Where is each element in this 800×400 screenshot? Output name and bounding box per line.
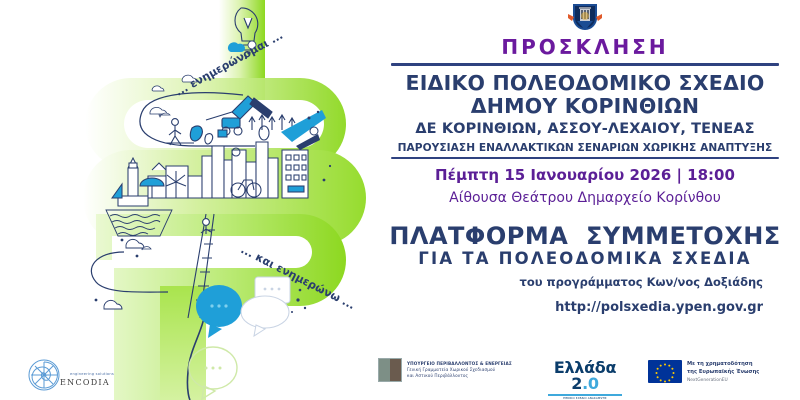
eu-line1: Με τη χρηματοδότηση [687,361,759,369]
page-topic: ΠΑΡΟΥΣΙΑΣΗ ΕΝΑΛΛΑΚΤΙΚΩΝ ΣΕΝΑΡΙΩΝ ΧΩΡΙΚΗΣ… [398,142,773,154]
greece20-two: 2 [571,374,582,393]
greece20-zero: 0 [588,374,599,393]
page-title-line2: ΔΗΜΟΥ ΚΟΡΙΝΘΙΩΝ [471,95,700,118]
divider-top [391,63,779,66]
greece20-logo: Ελλάδα 2.0 ΕΘΝΙΚΟ ΣΧΕΔΙΟ ΑΝΑΚΑΜΨΗΣ ΚΑΙ Α… [541,360,629,400]
encodia-name: ENCODIA [60,378,110,387]
footer-logos: engineering solutions ENCODIA ΥΠΟΥΡΓΕΙΟ … [0,352,800,400]
eu-line2: της Ευρωπαϊκής Ένωσης [687,369,759,377]
programme-name: του προγράμματος Κων/νος Δοξιάδης [520,275,800,289]
eu-flag-icon [648,360,682,383]
eu-line3: NextGenerationEU [687,378,759,385]
eu-funding-logo: Με τη χρηματοδότηση της Ευρωπαϊκής Ένωση… [648,360,759,384]
encodia-tagline: engineering solutions [70,372,114,376]
page-kicker: ΠΡΟΣΚΛΗΣΗ [501,37,668,57]
platform-url-link[interactable]: http://polsxedia.ypen.gov.gr [555,300,800,315]
platform-title-line1: ΠΛΑΤΦΟΡΜΑ ΣΥΜΜΕΤΟΧΗΣ [389,224,780,249]
ministry-seal-icon [378,358,402,382]
divider-mid [391,157,779,159]
poster-text-column: ΠΡΟΣΚΛΗΣΗ ΕΙΔΙΚΟ ΠΟΛΕΟΔΟΜΙΚΟ ΣΧΕΔΙΟ ΔΗΜΟ… [370,0,800,352]
page-title-line1: ΕΙΔΙΚΟ ΠΟΛΕΟΔΟΜΙΚΟ ΣΧΕΔΙΟ [406,72,765,95]
city-path-illustration: ... ενημερώνομαι ... [0,0,370,400]
encodia-spiral-icon [24,358,64,394]
coat-of-arms-icon [568,2,602,32]
ministry-logo: ΥΠΟΥΡΓΕΙΟ ΠΕΡΙΒΑΛΛΟΝΤΟΣ & ΕΝΕΡΓΕΙΑΣ Γενι… [378,358,512,382]
page-subtitle: ΔΕ ΚΟΡΙΝΘΙΩΝ, ΑΣΣΟΥ-ΛΕΧΑΙΟΥ, ΤΕΝΕΑΣ [415,121,754,138]
encodia-logo: engineering solutions ENCODIA [24,356,116,396]
ministry-line3: και Αστικού Περιβάλλοντος [407,373,512,379]
invitation-poster: ... ενημερώνομαι ... [0,0,800,400]
platform-title-line2: ΓΙΑ ΤΑ ΠΟΛΕΟΔΟΜΙΚΑ ΣΧΕΔΙΑ [418,250,751,267]
event-dateline: Πέμπτη 15 Ιανουαρίου 2026 | 18:00 [435,166,735,184]
event-venue: Αίθουσα Θεάτρου Δημαρχείο Κορίνθου [449,190,721,207]
